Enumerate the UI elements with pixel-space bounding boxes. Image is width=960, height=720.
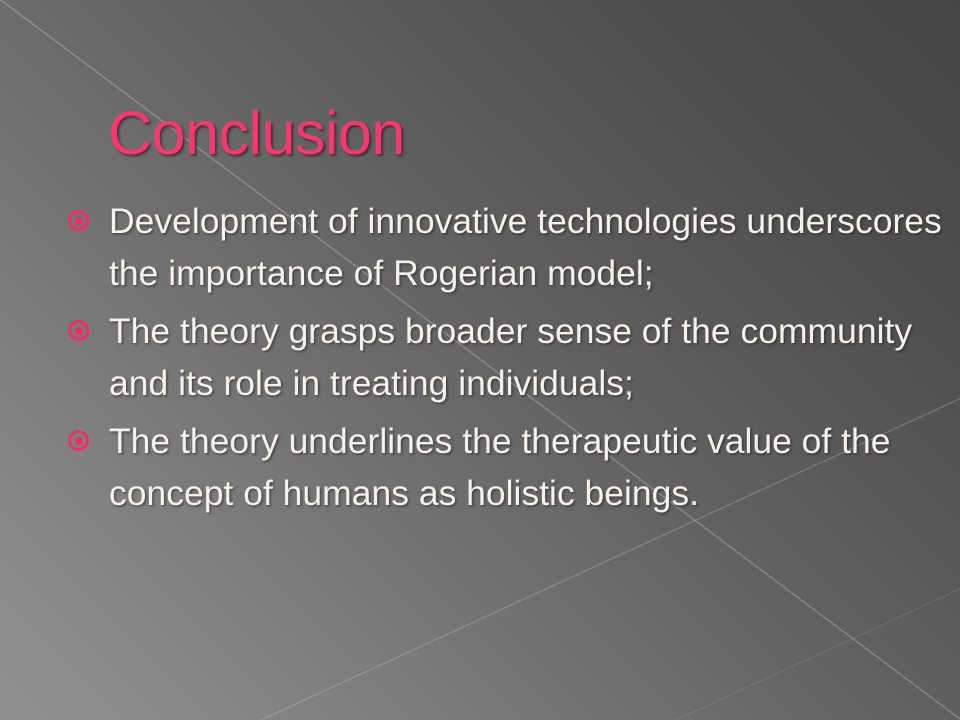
target-bullet-icon [68,320,89,341]
target-bullet-icon [68,430,89,451]
bullet-list: Development of innovative technologies u… [62,196,942,526]
list-item: The theory underlines the therapeutic va… [62,416,942,519]
list-item-text: The theory underlines the therapeutic va… [109,421,891,513]
page-title: Conclusion [108,103,405,164]
slide-canvas: Conclusion Development of innovative tec… [0,0,960,720]
list-item: The theory grasps broader sense of the c… [62,306,942,409]
target-bullet-icon [68,210,89,231]
list-item-text: Development of innovative technologies u… [109,201,942,293]
list-item-text: The theory grasps broader sense of the c… [109,311,912,403]
list-item: Development of innovative technologies u… [62,196,942,299]
